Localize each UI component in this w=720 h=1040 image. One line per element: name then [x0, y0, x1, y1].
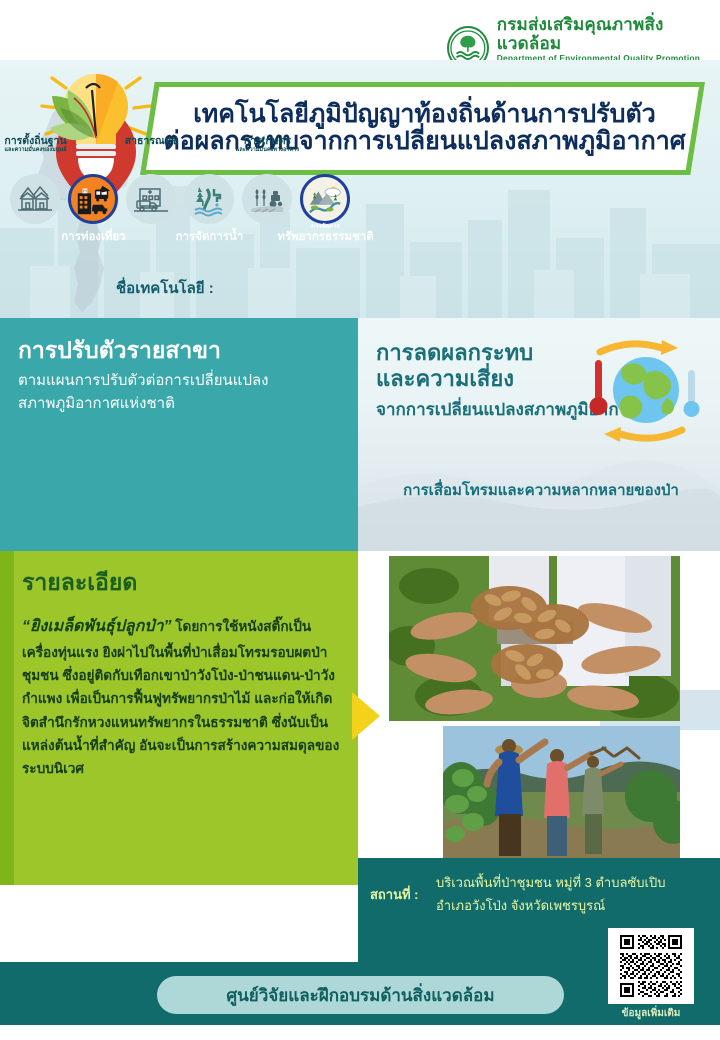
qr-code-icon[interactable] [608, 928, 694, 1004]
natres-svg [306, 180, 344, 218]
location-label: สถานที่ : [370, 884, 419, 905]
poster-root: กรมส่งเสริมคุณภาพสิ่งแวดล้อม Department … [0, 0, 720, 1040]
sector-caption-main: การจัดการน้ำ [176, 231, 244, 243]
villagers-shooting-seeds-in-field-photo [443, 726, 680, 858]
location-line2: อำเภอวังโป่ง จังหวัดเพชรบูรณ์ [436, 895, 666, 918]
hot-thermometer-icon [590, 360, 608, 415]
sector-caption-water-management: การจัดการน้ำ [176, 231, 244, 243]
sector-caption-main: สาธารณสุข [125, 136, 179, 147]
footer-org-label: ศูนย์วิจัยและฝึกอบรมด้านสิ่งแวดล้อม [226, 982, 494, 1009]
org-name-th: กรมส่งเสริมคุณภาพสิ่งแวดล้อม [497, 16, 720, 53]
arrow-svg [350, 690, 386, 742]
wheat-tractor-farm-icon [242, 174, 292, 224]
location-left-spacer [0, 885, 358, 962]
footer-org-pill[interactable]: ศูนย์วิจัยและฝึกอบรมด้านสิ่งแวดล้อม [157, 976, 564, 1014]
hands-holding-winged-seeds-photo [389, 556, 680, 721]
sector-caption-main: การเกษตร [236, 136, 300, 147]
sector-item-agriculture[interactable]: การเกษตร และความมั่นคงทางอาหาร [240, 158, 295, 230]
sector-item-natural-resources[interactable]: การจัดการ ทรัพยากรธรรมชาติ [298, 158, 353, 230]
mitigation-impact-text: การเสื่อมโทรมและความหลากหลายของป่า [376, 478, 706, 502]
details-quote: “ยิงเมล็ดพันธุ์ปลูกป่า” [22, 618, 171, 635]
photo1-svg [389, 556, 680, 721]
adaptation-sub-line1: ตามแผนการปรับตัวต่อการเปลี่ยนแปลง [18, 372, 269, 389]
sector-caption-settlement: การตั้งถิ่นฐาน และความมั่นคงของมนุษย์ [4, 136, 66, 153]
settlement-svg [15, 179, 55, 219]
details-text: โดยการใช้หนังสติ๊กเป็นเครื่องทุ่นแรง ยิง… [22, 619, 339, 776]
yellow-right-arrow-icon [350, 690, 386, 742]
sector-caption-agriculture: การเกษตร และความมั่นคงทางอาหาร [236, 136, 300, 153]
mitigation-heading-line2: และความเสี่ยง [376, 366, 514, 391]
technology-label: ชื่อเทคโนโลยี : [116, 276, 214, 300]
village-houses-mountains-icon [10, 174, 60, 224]
hotel-bus-car-plane-tourism-icon: H [68, 174, 118, 224]
health-svg [131, 179, 171, 219]
details-heading: รายละเอียด [22, 565, 358, 601]
sector-item-tourism[interactable]: H การท่องเที่ยว [66, 158, 121, 230]
mitigation-heading-line1: การลดผลกระทบ [376, 340, 533, 365]
qr-caption: ข้อมูลเพิ่มเติม [608, 1006, 694, 1021]
tourism-svg: H [74, 180, 112, 218]
water-svg [189, 179, 229, 219]
sector-caption-main: การท่องเที่ยว [61, 231, 125, 243]
sector-caption-sub: การจัดการ [277, 224, 373, 231]
adaptation-heading: การปรับตัวรายสาขา [18, 338, 344, 363]
mitigation-panel: การลดผลกระทบ และความเสี่ยง จากการเปลี่ยน… [358, 318, 720, 551]
sector-caption-tourism: การท่องเที่ยว [61, 231, 125, 243]
sector-caption-sub: และความมั่นคงทางอาหาร [236, 147, 300, 153]
svg-text:H: H [83, 189, 87, 195]
qr-svg [613, 933, 689, 999]
adaptation-subheading: ตามแผนการปรับตัวต่อการเปลี่ยนแปลง สภาพภู… [18, 370, 344, 415]
location-value: บริเวณพื้นที่ป่าชุมชน หมู่ที่ 3 ตำบลซับเ… [436, 872, 666, 918]
adaptation-sub-line2: สภาพภูมิอากาศแห่งชาติ [18, 395, 175, 412]
details-body: “ยิงเมล็ดพันธุ์ปลูกป่า” โดยการใช้หนังสติ… [22, 613, 340, 781]
sector-caption-main: การตั้งถิ่นฐาน [4, 136, 66, 147]
agri-svg [247, 179, 287, 219]
sector-icon-row: การตั้งถิ่นฐาน และความมั่นคงของมนุษย์ [8, 158, 353, 230]
details-panel: รายละเอียด “ยิงเมล็ดพันธุ์ปลูกป่า” โดยกา… [0, 551, 358, 885]
globe-svg [578, 336, 706, 446]
details-left-edge [0, 551, 14, 885]
poster-title-line1: เทคโนโลยีภูมิปัญญาท้องถิ่นด้านการปรับตัว [193, 101, 655, 128]
location-line1: บริเวณพื้นที่ป่าชุมชน หมู่ที่ 3 ตำบลซับเ… [436, 872, 666, 895]
bottom-white-margin [0, 1025, 720, 1040]
cold-thermometer-icon [684, 370, 700, 417]
sector-caption-natural-resources: การจัดการ ทรัพยากรธรรมชาติ [277, 224, 373, 243]
sector-caption-main: ทรัพยากรธรรมชาติ [277, 231, 373, 243]
hospital-ambulance-icon [126, 174, 176, 224]
mountain-forest-stream-icon [300, 174, 350, 224]
sector-caption-public-health: สาธารณสุข [125, 136, 179, 147]
globe-thermometers-climate-icon [578, 336, 706, 446]
sector-caption-sub: และความมั่นคงของมนุษย์ [4, 147, 66, 153]
sector-item-public-health[interactable]: สาธารณสุข [124, 158, 179, 230]
river-faucet-water-icon [184, 174, 234, 224]
adaptation-panel: การปรับตัวรายสาขา ตามแผนการปรับตัวต่อการ… [0, 318, 358, 551]
sector-item-settlement[interactable]: การตั้งถิ่นฐาน และความมั่นคงของมนุษย์ [8, 158, 63, 230]
photo2-svg [443, 726, 680, 858]
sector-item-water-management[interactable]: การจัดการน้ำ [182, 158, 237, 230]
